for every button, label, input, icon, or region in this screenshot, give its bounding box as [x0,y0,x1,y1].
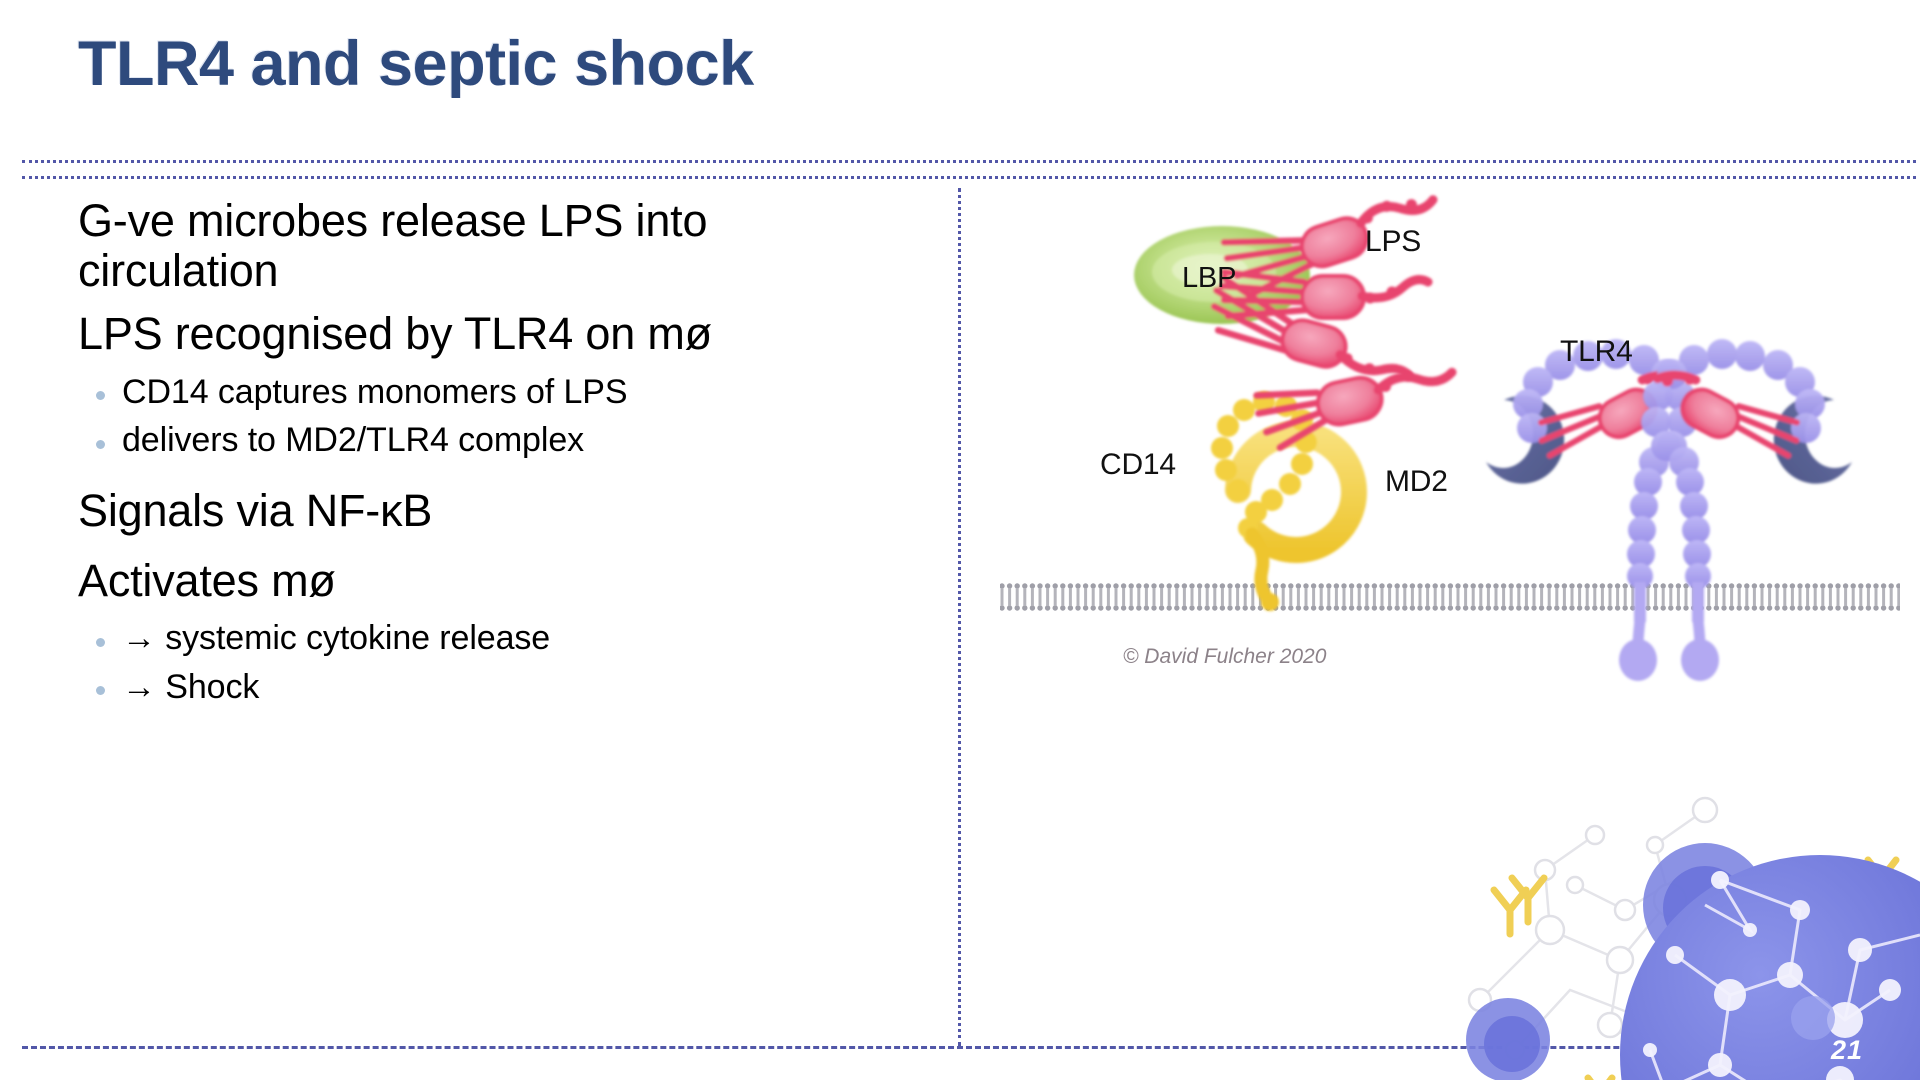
bullet-level2-label: delivers to MD2/TLR4 complex [122,421,584,459]
page-title: TLR4 and septic shock [78,28,754,100]
bullet-dot-icon [96,391,105,400]
label-lps: LPS [1365,225,1421,259]
header-divider-lower [22,176,1916,179]
bullet-dot-icon [96,638,105,647]
bullet-level2: → Shock [78,668,918,707]
bullet-dot-icon [96,440,105,449]
label-lbp: LBP [1182,262,1236,295]
bullet-dot-icon [96,686,105,695]
label-tlr4: TLR4 [1560,335,1633,369]
tlr4-signalling-diagram: LBP LPS TLR4 CD14 MD2 [1000,190,1900,710]
bullet-level1: LPS recognised by TLR4 on mø [78,309,918,359]
bullet-level2: → systemic cytokine release [78,619,918,658]
slide-canvas: TLR4 and septic shock G-ve microbes rele… [0,0,1920,1080]
lbp-lps-cluster [1134,190,1444,389]
decorative-molecule-graphic [1420,750,1920,1080]
bullet-level2: delivers to MD2/TLR4 complex [78,421,918,460]
header-divider-upper [22,160,1916,163]
page-number: 21 [1831,1035,1863,1066]
bullet-level2-label: CD14 captures monomers of LPS [122,373,627,411]
label-md2: MD2 [1385,465,1448,499]
bullet-level1: G-ve microbes release LPS into circulati… [78,196,918,295]
plasma-membrane [1000,580,1900,614]
column-divider [958,188,961,1046]
footer-divider [22,1046,1916,1049]
bullet-level1: Activates mø [78,556,918,606]
bullet-level2: CD14 captures monomers of LPS [78,373,918,412]
content-bullet-list: G-ve microbes release LPS into circulati… [78,196,918,717]
copyright-notice: © David Fulcher 2020 [1123,645,1326,669]
bullet-level1: Signals via NF-κB [78,486,918,536]
label-cd14: CD14 [1100,448,1176,482]
bullet-level2-label: → Shock [122,668,259,706]
bullet-level2-label: → systemic cytokine release [122,619,550,657]
